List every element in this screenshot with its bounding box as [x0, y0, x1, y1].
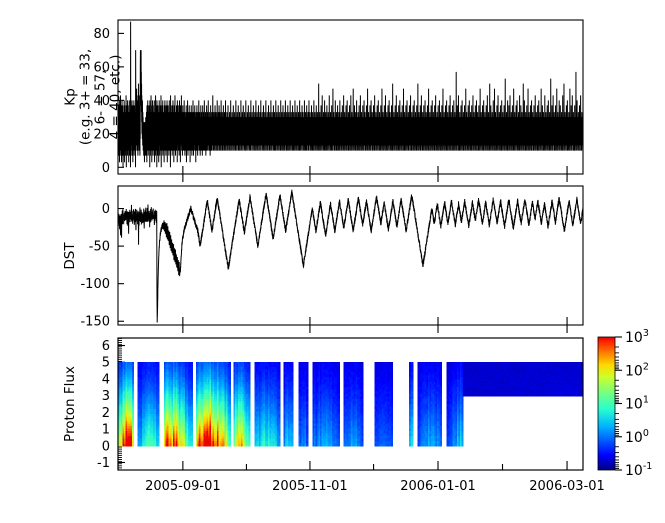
dst-y-tick-label: 0: [102, 202, 110, 217]
heatmap-cell: [132, 443, 134, 446]
heatmap-cell: [291, 443, 293, 446]
heatmap-cell: [306, 443, 308, 446]
heatmap-cell: [157, 443, 159, 446]
heatmap-cell: [191, 443, 193, 446]
heatmap-cell: [249, 443, 251, 446]
proton-y-tick-label: 2: [102, 406, 110, 421]
heatmap-cell: [362, 443, 364, 446]
kp-axis-title-line: (e.g. 3+ = 33,: [78, 49, 94, 145]
figure-canvas: 020406080 Kp(e.g. 3+ = 33,6- = 57,4 = 40…: [0, 0, 665, 523]
dst-axis-title: DST: [62, 242, 78, 270]
space-weather-figure: 020406080 Kp(e.g. 3+ = 33,6- = 57,4 = 40…: [0, 0, 665, 523]
heatmap-cell: [229, 443, 231, 446]
heatmap-cell: [338, 443, 340, 446]
kp-axis-title-line: 6- = 57,: [93, 70, 109, 125]
kp-axis-title-line: 4 = 40, etc.): [108, 55, 124, 140]
dst-y-tick-label: -150: [80, 315, 110, 330]
proton-y-tick-label: 1: [102, 423, 110, 438]
proton-y-tick-label: 5: [102, 356, 110, 371]
dst-y-tick-label: -100: [80, 277, 110, 292]
proton-y-tick-label: 6: [102, 339, 110, 354]
kp-y-tick-label: 0: [102, 161, 110, 176]
proton-y-tick-label: -1: [97, 456, 110, 471]
kp-y-tick-label: 80: [93, 27, 110, 42]
dst-y-tick-label: -50: [89, 240, 110, 255]
heatmap-cell: [278, 443, 280, 446]
kp-axis-title-line: Kp: [63, 88, 79, 105]
proton-y-tick-label: 3: [102, 389, 110, 404]
proton-y-tick-label: 4: [102, 372, 110, 387]
proton-y-tick-label: 0: [102, 439, 110, 454]
